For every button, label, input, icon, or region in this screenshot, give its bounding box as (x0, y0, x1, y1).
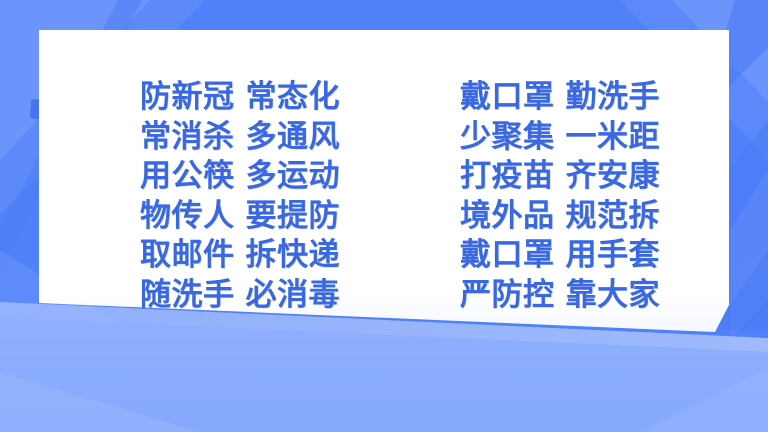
slogan-line[interactable]: 常消杀多通风 (140, 118, 340, 158)
slogan-part-first: 境外品 (460, 198, 555, 234)
slogan-part-second: 常态化 (246, 79, 341, 115)
slogan-part-second: 靠大家 (566, 277, 661, 313)
slogan-part-second: 齐安康 (566, 158, 661, 194)
slogan-part-second: 要提防 (246, 198, 341, 234)
slogan-part-first: 打疫苗 (460, 158, 555, 194)
slogan-column-right: 戴口罩勤洗手 少聚集一米距 打疫苗齐安康 境外品规范拆 戴口罩用手套 严防控靠大… (460, 78, 660, 315)
poster-canvas: 防新冠常态化 常消杀多通风 用公筷多运动 物传人要提防 取邮件拆快递 随洗手必消… (0, 0, 768, 432)
slogan-part-first: 用公筷 (140, 158, 235, 194)
slogan-line[interactable]: 少聚集一米距 (460, 118, 660, 158)
slogan-part-second: 必消毒 (246, 277, 341, 313)
slogan-part-second: 规范拆 (566, 198, 661, 234)
slogan-part-first: 戴口罩 (460, 79, 555, 115)
slogan-line[interactable]: 境外品规范拆 (460, 197, 660, 237)
slogan-line[interactable]: 严防控靠大家 (460, 276, 660, 316)
slogan-line[interactable]: 防新冠常态化 (140, 78, 340, 118)
slogan-part-second: 勤洗手 (566, 79, 661, 115)
slogan-part-first: 严防控 (460, 277, 555, 313)
slogan-line[interactable]: 戴口罩勤洗手 (460, 78, 660, 118)
slogan-part-first: 常消杀 (140, 119, 235, 155)
slogan-part-second: 用手套 (566, 237, 661, 273)
slogan-part-first: 戴口罩 (460, 237, 555, 273)
slogan-part-second: 多通风 (246, 119, 341, 155)
slogan-part-first: 少聚集 (460, 119, 555, 155)
slogan-part-first: 防新冠 (140, 79, 235, 115)
slogan-line[interactable]: 戴口罩用手套 (460, 236, 660, 276)
slogan-part-first: 取邮件 (140, 237, 235, 273)
slogan-line[interactable]: 取邮件拆快递 (140, 236, 340, 276)
slogan-part-first: 物传人 (140, 198, 235, 234)
slogan-line[interactable]: 用公筷多运动 (140, 157, 340, 197)
slogan-line[interactable]: 打疫苗齐安康 (460, 157, 660, 197)
slogan-part-second: 多运动 (246, 158, 341, 194)
slogan-column-left: 防新冠常态化 常消杀多通风 用公筷多运动 物传人要提防 取邮件拆快递 随洗手必消… (140, 78, 340, 315)
slogan-line[interactable]: 随洗手必消毒 (140, 276, 340, 316)
slogan-part-second: 拆快递 (246, 237, 341, 273)
slogan-part-second: 一米距 (566, 119, 661, 155)
slogan-part-first: 随洗手 (140, 277, 235, 313)
slogan-line[interactable]: 物传人要提防 (140, 197, 340, 237)
